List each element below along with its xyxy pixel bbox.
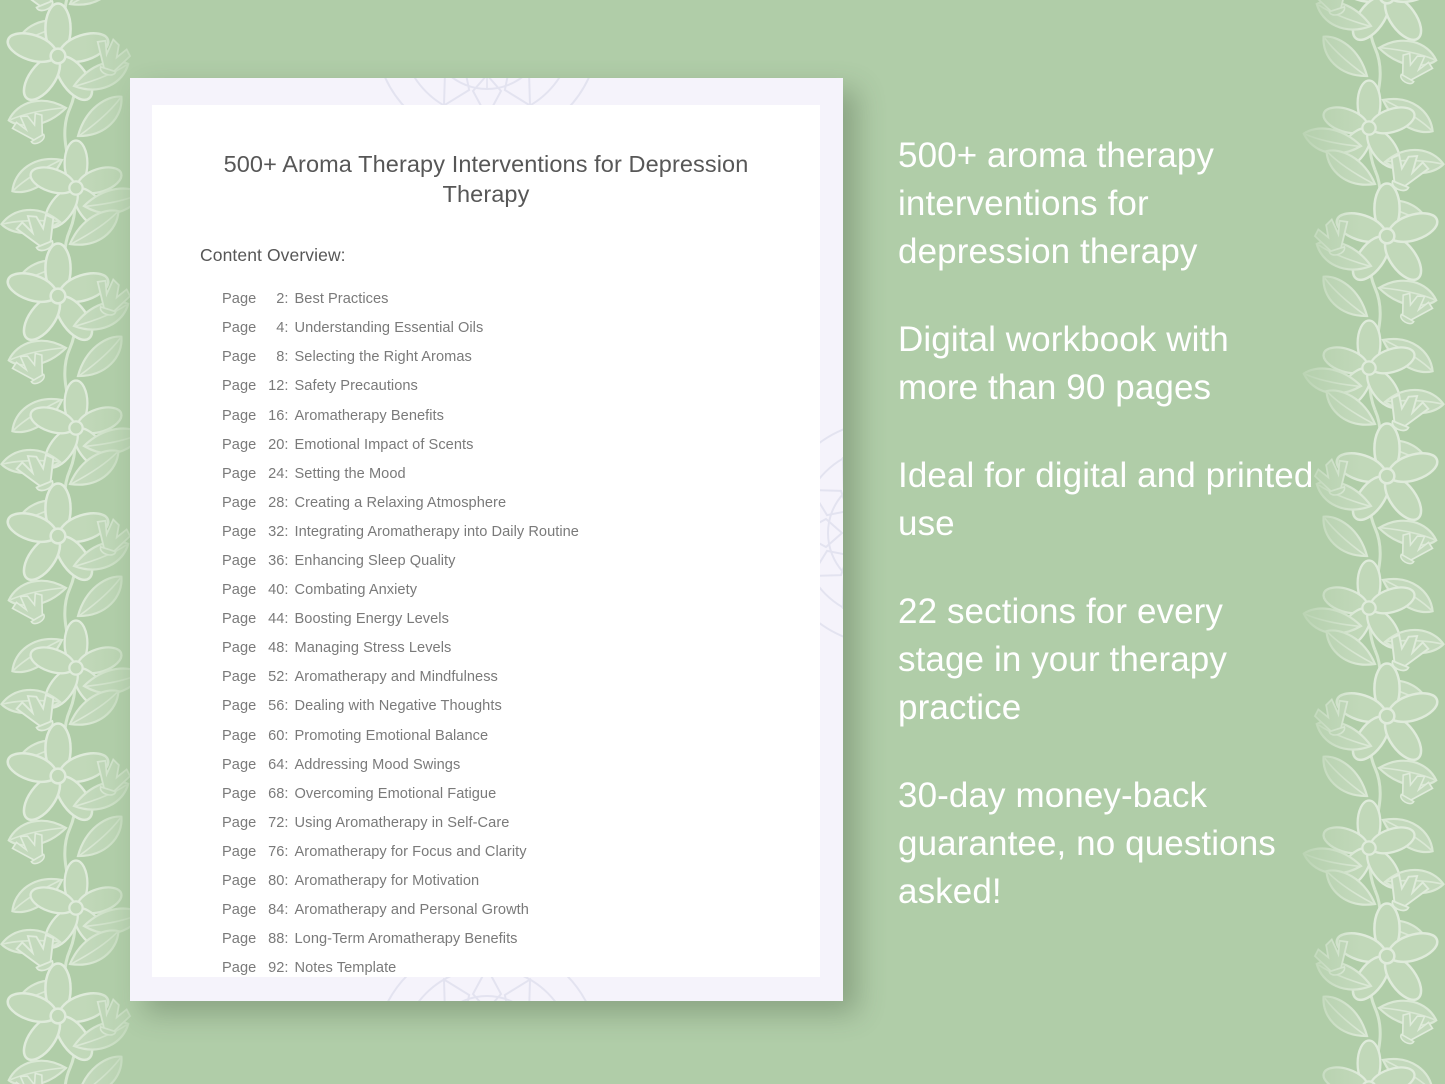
content-overview-label: Content Overview: bbox=[152, 209, 820, 266]
toc-page-number: 36 bbox=[260, 547, 284, 576]
toc-colon: : bbox=[284, 402, 288, 431]
toc-page-word: Page bbox=[222, 780, 256, 809]
toc-section-title: Long-Term Aromatherapy Benefits bbox=[295, 931, 518, 947]
feature-item: Digital workbook with more than 90 pages bbox=[898, 316, 1318, 412]
book-page: 500+ Aroma Therapy Interventions for Dep… bbox=[152, 105, 820, 977]
toc-section-title: Promoting Emotional Balance bbox=[295, 728, 489, 744]
toc-row: Page 52:Aromatherapy and Mindfulness bbox=[222, 663, 820, 692]
toc-colon: : bbox=[284, 925, 288, 954]
toc-section-title: Aromatherapy and Personal Growth bbox=[295, 902, 529, 918]
toc-page-word: Page bbox=[222, 692, 256, 721]
toc-row: Page 60:Promoting Emotional Balance bbox=[222, 722, 820, 751]
toc-row: Page 72:Using Aromatherapy in Self-Care bbox=[222, 809, 820, 838]
toc-section-title: Integrating Aromatherapy into Daily Rout… bbox=[295, 524, 579, 540]
toc-page-number: 44 bbox=[260, 605, 284, 634]
toc-page-number: 60 bbox=[260, 722, 284, 751]
feature-item: 30-day money-back guarantee, no question… bbox=[898, 772, 1318, 916]
toc-page-number: 56 bbox=[260, 692, 284, 721]
toc-colon: : bbox=[284, 576, 288, 605]
toc-page-word: Page bbox=[222, 605, 256, 634]
toc-row: Page 12:Safety Precautions bbox=[222, 372, 820, 401]
toc-colon: : bbox=[284, 634, 288, 663]
toc-section-title: Aromatherapy Benefits bbox=[295, 408, 445, 424]
toc-page-word: Page bbox=[222, 547, 256, 576]
toc-page-word: Page bbox=[222, 314, 256, 343]
toc-colon: : bbox=[284, 605, 288, 634]
toc-page-number: 12 bbox=[260, 372, 284, 401]
toc-section-title: Addressing Mood Swings bbox=[295, 757, 461, 773]
toc-colon: : bbox=[284, 780, 288, 809]
toc-section-title: Combating Anxiety bbox=[295, 582, 418, 598]
toc-row: Page 68:Overcoming Emotional Fatigue bbox=[222, 780, 820, 809]
toc-section-title: Notes Template bbox=[295, 960, 397, 976]
page-title: 500+ Aroma Therapy Interventions for Dep… bbox=[152, 105, 820, 209]
toc-row: Page 24:Setting the Mood bbox=[222, 460, 820, 489]
toc-section-title: Overcoming Emotional Fatigue bbox=[295, 786, 497, 802]
toc-page-word: Page bbox=[222, 372, 256, 401]
toc-row: Page 92:Notes Template bbox=[222, 954, 820, 983]
toc-colon: : bbox=[284, 518, 288, 547]
toc-row: Page 64:Addressing Mood Swings bbox=[222, 751, 820, 780]
toc-row: Page 48:Managing Stress Levels bbox=[222, 634, 820, 663]
toc-page-word: Page bbox=[222, 896, 256, 925]
toc-row: Page 88:Long-Term Aromatherapy Benefits bbox=[222, 925, 820, 954]
toc-page-word: Page bbox=[222, 402, 256, 431]
toc-page-number: 4 bbox=[260, 314, 284, 343]
book-preview-card: 500+ Aroma Therapy Interventions for Dep… bbox=[130, 78, 843, 1001]
toc-section-title: Enhancing Sleep Quality bbox=[295, 553, 456, 569]
toc-page-number: 52 bbox=[260, 663, 284, 692]
toc-page-number: 20 bbox=[260, 431, 284, 460]
toc-page-word: Page bbox=[222, 518, 256, 547]
toc-page-word: Page bbox=[222, 431, 256, 460]
toc-colon: : bbox=[284, 867, 288, 896]
toc-page-number: 72 bbox=[260, 809, 284, 838]
toc-section-title: Aromatherapy for Motivation bbox=[295, 873, 480, 889]
toc-page-word: Page bbox=[222, 722, 256, 751]
toc-page-number: 16 bbox=[260, 402, 284, 431]
toc-colon: : bbox=[284, 489, 288, 518]
toc-page-word: Page bbox=[222, 343, 256, 372]
toc-colon: : bbox=[284, 314, 288, 343]
toc-section-title: Understanding Essential Oils bbox=[295, 320, 484, 336]
toc-page-number: 76 bbox=[260, 838, 284, 867]
table-of-contents: Page 2:Best PracticesPage 4:Understandin… bbox=[152, 266, 820, 983]
toc-colon: : bbox=[284, 547, 288, 576]
toc-page-word: Page bbox=[222, 663, 256, 692]
toc-page-number: 80 bbox=[260, 867, 284, 896]
toc-page-number: 24 bbox=[260, 460, 284, 489]
toc-section-title: Emotional Impact of Scents bbox=[295, 437, 474, 453]
toc-section-title: Boosting Energy Levels bbox=[295, 611, 449, 627]
feature-item: 22 sections for every stage in your ther… bbox=[898, 588, 1318, 732]
toc-colon: : bbox=[284, 809, 288, 838]
toc-colon: : bbox=[284, 431, 288, 460]
toc-section-title: Aromatherapy and Mindfulness bbox=[295, 669, 498, 685]
toc-page-number: 68 bbox=[260, 780, 284, 809]
toc-colon: : bbox=[284, 838, 288, 867]
toc-page-word: Page bbox=[222, 634, 256, 663]
toc-colon: : bbox=[284, 343, 288, 372]
toc-row: Page 76:Aromatherapy for Focus and Clari… bbox=[222, 838, 820, 867]
toc-row: Page 56:Dealing with Negative Thoughts bbox=[222, 692, 820, 721]
toc-colon: : bbox=[284, 285, 288, 314]
toc-section-title: Setting the Mood bbox=[295, 466, 406, 482]
toc-row: Page 32:Integrating Aromatherapy into Da… bbox=[222, 518, 820, 547]
toc-row: Page 80:Aromatherapy for Motivation bbox=[222, 867, 820, 896]
toc-row: Page 8:Selecting the Right Aromas bbox=[222, 343, 820, 372]
toc-page-number: 40 bbox=[260, 576, 284, 605]
toc-row: Page 40:Combating Anxiety bbox=[222, 576, 820, 605]
toc-page-number: 88 bbox=[260, 925, 284, 954]
toc-row: Page 28:Creating a Relaxing Atmosphere bbox=[222, 489, 820, 518]
toc-page-number: 84 bbox=[260, 896, 284, 925]
toc-page-word: Page bbox=[222, 576, 256, 605]
toc-row: Page 4:Understanding Essential Oils bbox=[222, 314, 820, 343]
toc-page-number: 28 bbox=[260, 489, 284, 518]
toc-colon: : bbox=[284, 663, 288, 692]
toc-section-title: Creating a Relaxing Atmosphere bbox=[295, 495, 507, 511]
toc-row: Page 44:Boosting Energy Levels bbox=[222, 605, 820, 634]
feature-item: Ideal for digital and printed use bbox=[898, 452, 1318, 548]
toc-section-title: Best Practices bbox=[295, 291, 389, 307]
toc-section-title: Using Aromatherapy in Self-Care bbox=[295, 815, 510, 831]
toc-colon: : bbox=[284, 896, 288, 925]
toc-section-title: Selecting the Right Aromas bbox=[295, 349, 472, 365]
toc-colon: : bbox=[284, 460, 288, 489]
toc-colon: : bbox=[284, 722, 288, 751]
toc-page-word: Page bbox=[222, 285, 256, 314]
toc-colon: : bbox=[284, 954, 288, 983]
toc-row: Page 84:Aromatherapy and Personal Growth bbox=[222, 896, 820, 925]
toc-page-word: Page bbox=[222, 460, 256, 489]
toc-row: Page 2:Best Practices bbox=[222, 285, 820, 314]
toc-page-number: 92 bbox=[260, 954, 284, 983]
toc-page-number: 32 bbox=[260, 518, 284, 547]
toc-page-word: Page bbox=[222, 954, 256, 983]
toc-section-title: Managing Stress Levels bbox=[295, 640, 452, 656]
toc-page-number: 2 bbox=[260, 285, 284, 314]
toc-page-word: Page bbox=[222, 809, 256, 838]
toc-page-word: Page bbox=[222, 489, 256, 518]
feature-item: 500+ aroma therapy interventions for dep… bbox=[898, 132, 1318, 276]
feature-list: 500+ aroma therapy interventions for dep… bbox=[898, 132, 1318, 916]
toc-page-number: 64 bbox=[260, 751, 284, 780]
toc-row: Page 16:Aromatherapy Benefits bbox=[222, 402, 820, 431]
toc-page-word: Page bbox=[222, 925, 256, 954]
toc-section-title: Aromatherapy for Focus and Clarity bbox=[295, 844, 527, 860]
toc-section-title: Safety Precautions bbox=[295, 378, 418, 394]
toc-section-title: Dealing with Negative Thoughts bbox=[295, 698, 502, 714]
toc-row: Page 20:Emotional Impact of Scents bbox=[222, 431, 820, 460]
toc-page-word: Page bbox=[222, 751, 256, 780]
toc-page-number: 48 bbox=[260, 634, 284, 663]
toc-colon: : bbox=[284, 751, 288, 780]
toc-page-number: 8 bbox=[260, 343, 284, 372]
toc-page-word: Page bbox=[222, 838, 256, 867]
toc-page-word: Page bbox=[222, 867, 256, 896]
toc-colon: : bbox=[284, 372, 288, 401]
toc-colon: : bbox=[284, 692, 288, 721]
toc-row: Page 36:Enhancing Sleep Quality bbox=[222, 547, 820, 576]
